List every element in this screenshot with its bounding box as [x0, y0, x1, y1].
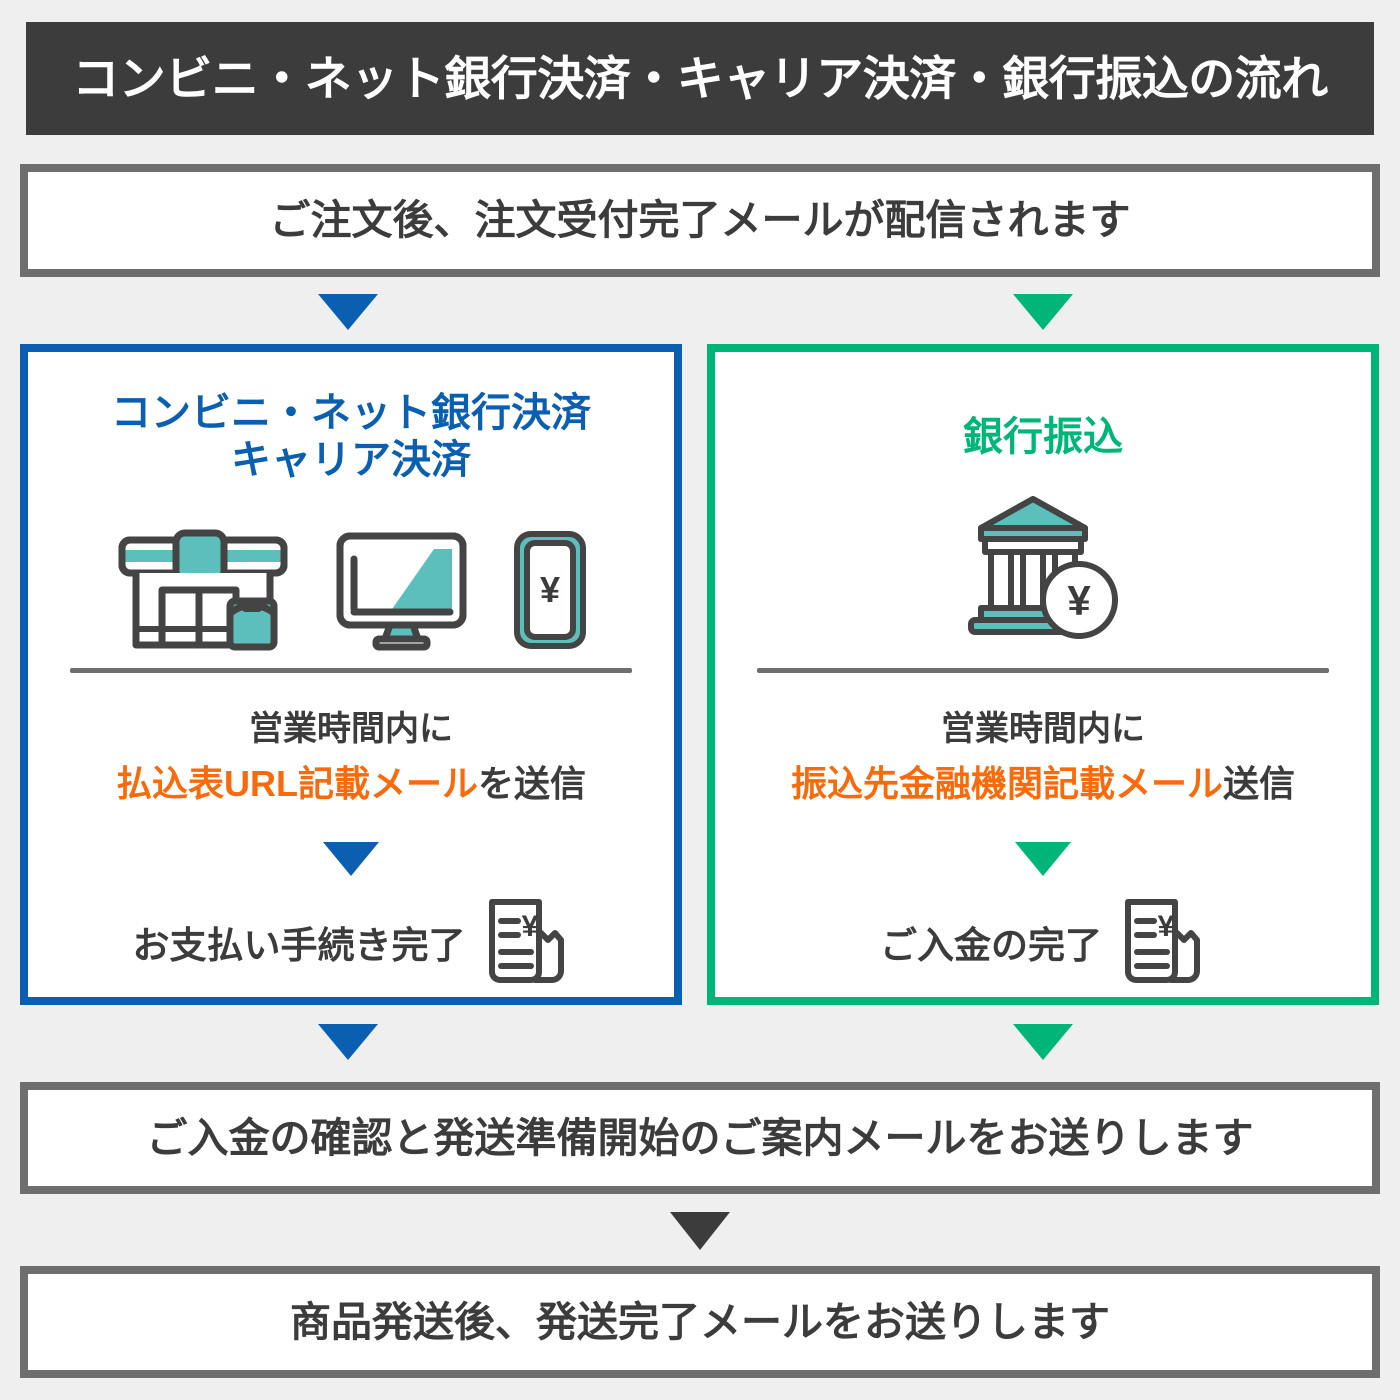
bank-yen-icon: ¥	[957, 493, 1129, 643]
desktop-monitor-icon	[334, 529, 469, 651]
panel-konbini-final-text: お支払い手続き完了	[133, 915, 466, 969]
arrow-down-to-shipped-icon	[670, 1212, 730, 1250]
panel-furikomi-title: 銀行振込	[715, 414, 1371, 461]
panel-furikomi-note: 営業時間内に 振込先金融機関記載メール送信	[715, 707, 1371, 808]
step-shipped-text: 商品発送後、発送完了メールをお送りします	[290, 1302, 1110, 1343]
receipt-yen-icon: ¥	[1116, 896, 1206, 988]
panel-konbini-icon-row: ¥	[28, 522, 674, 657]
receipt-yen-icon: ¥	[480, 896, 570, 988]
panel-bank-transfer: 銀行振込	[707, 344, 1379, 1005]
arrow-down-to-konbini-icon	[318, 294, 378, 330]
step-order-confirmation-box: ご注文後、注文受付完了メールが配信されます	[20, 164, 1380, 277]
panel-furikomi-note-line2: 振込先金融機関記載メール送信	[715, 760, 1371, 808]
header-banner: コンビニ・ネット銀行決済・キャリア決済・銀行振込の流れ	[26, 22, 1374, 135]
yen-symbol-receipt-right: ¥	[1158, 910, 1175, 943]
convenience-store-icon	[114, 529, 292, 651]
diagram-canvas: コンビニ・ネット銀行決済・キャリア決済・銀行振込の流れ ご注文後、注文受付完了メ…	[0, 0, 1400, 1400]
panel-furikomi-icon-row: ¥	[715, 500, 1371, 635]
yen-symbol-phone: ¥	[539, 569, 559, 610]
panel-konbini-note-highlight: 払込表URL記載メール	[116, 763, 478, 804]
yen-symbol-receipt-left: ¥	[521, 910, 538, 943]
panel-furikomi-note-line1: 営業時間内に	[715, 707, 1371, 752]
arrow-down-from-konbini-icon	[318, 1024, 378, 1060]
yen-symbol-bank: ¥	[1067, 577, 1091, 624]
arrow-down-from-furikomi-icon	[1013, 1024, 1073, 1060]
panel-konbini-payment: コンビニ・ネット銀行決済 キャリア決済	[20, 344, 682, 1005]
panel-konbini-note-line1: 営業時間内に	[28, 707, 674, 752]
step-payment-confirmed-box: ご入金の確認と発送準備開始のご案内メールをお送りします	[20, 1082, 1380, 1194]
panel-furikomi-divider	[757, 668, 1329, 673]
panel-furikomi-final-text: ご入金の完了	[880, 915, 1102, 969]
panel-konbini-divider	[70, 668, 632, 673]
arrow-down-furikomi-inner-icon	[1015, 842, 1071, 876]
panel-konbini-title: コンビニ・ネット銀行決済 キャリア決済	[28, 390, 674, 484]
panel-furikomi-note-highlight: 振込先金融機関記載メール	[791, 763, 1223, 804]
smartphone-yen-icon: ¥	[511, 529, 589, 651]
panel-furikomi-final-row: ご入金の完了 ¥	[715, 892, 1371, 992]
panel-furikomi-note-suffix: 送信	[1223, 763, 1295, 804]
panel-konbini-final-row: お支払い手続き完了 ¥	[28, 892, 674, 992]
panel-konbini-note-line2: 払込表URL記載メールを送信	[28, 760, 674, 808]
page-title: コンビニ・ネット銀行決済・キャリア決済・銀行振込の流れ	[72, 55, 1328, 102]
arrow-down-konbini-inner-icon	[323, 842, 379, 876]
arrow-down-to-furikomi-icon	[1013, 294, 1073, 330]
panel-konbini-note: 営業時間内に 払込表URL記載メールを送信	[28, 707, 674, 808]
panel-konbini-note-suffix: を送信	[478, 763, 586, 804]
step-payment-confirmed-text: ご入金の確認と発送準備開始のご案内メールをお送りします	[147, 1118, 1254, 1159]
step-order-confirmation-text: ご注文後、注文受付完了メールが配信されます	[270, 200, 1131, 241]
step-shipped-box: 商品発送後、発送完了メールをお送りします	[20, 1266, 1380, 1378]
